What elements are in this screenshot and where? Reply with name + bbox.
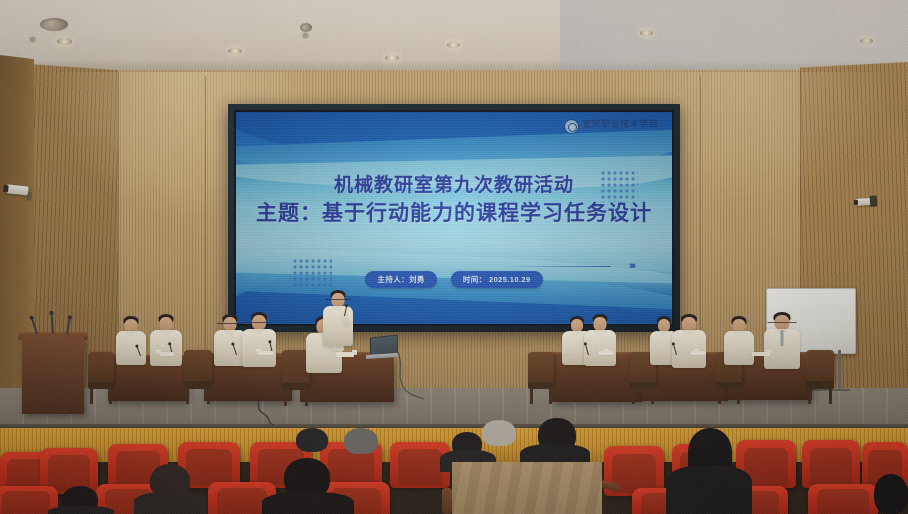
seat-cushion bbox=[2, 491, 49, 514]
panelist-4 bbox=[240, 312, 278, 368]
sprinkler-icon-2 bbox=[303, 33, 308, 38]
document-5 bbox=[690, 351, 706, 355]
panelist-2 bbox=[148, 314, 184, 368]
document-2 bbox=[258, 351, 274, 355]
stage-chair-2 bbox=[184, 350, 212, 404]
ceiling-downlight-5 bbox=[640, 30, 653, 36]
document-6 bbox=[752, 352, 770, 356]
seat-cushion bbox=[328, 449, 374, 485]
seat-cushion bbox=[817, 489, 869, 514]
panelist-1 bbox=[114, 316, 148, 368]
college-logo-text: 宜宾职业技术学院 YIBIN VOCATIONAL AND TECHNICAL … bbox=[582, 120, 663, 133]
camera-lens-right bbox=[854, 200, 858, 205]
chair-leg-right bbox=[829, 388, 832, 404]
panelist-torso bbox=[150, 330, 182, 366]
chair-back bbox=[184, 350, 212, 383]
security-camera-right-icon bbox=[856, 195, 883, 209]
chair-back bbox=[88, 352, 114, 384]
seat-cushion bbox=[186, 449, 232, 485]
ceiling-downlight-6 bbox=[860, 38, 873, 44]
chair-leg-right bbox=[207, 388, 210, 404]
chair-leg-right bbox=[549, 388, 552, 404]
slide-title-line-1: 机械教研室第九次教研活动 bbox=[236, 174, 672, 198]
panelist-8 bbox=[582, 314, 618, 368]
ceiling-vent-icon-2 bbox=[300, 23, 312, 32]
chair-back bbox=[806, 350, 834, 383]
chair-leg-right bbox=[651, 388, 654, 404]
document-1 bbox=[160, 352, 174, 356]
audience-shoulders-3 bbox=[262, 492, 354, 514]
audience-shoulders-1 bbox=[48, 506, 114, 514]
panelist-6-standing-speaker bbox=[320, 290, 356, 348]
panelist-torso bbox=[584, 330, 616, 366]
stage-cable bbox=[252, 392, 302, 426]
panelist-12 bbox=[762, 312, 802, 370]
slide-date-badge: 时间： 2025.10.29 bbox=[451, 271, 543, 288]
audience-head-10 bbox=[874, 474, 908, 514]
whiteboard-cable bbox=[396, 352, 436, 400]
ceiling-downlight-4 bbox=[447, 42, 460, 48]
panelist-head bbox=[160, 317, 173, 331]
audience-shoulders-2 bbox=[134, 492, 206, 514]
seat-cushion bbox=[810, 448, 853, 485]
panelist-head bbox=[682, 317, 696, 331]
chair-leg-left bbox=[186, 388, 189, 404]
panelist-torso bbox=[724, 331, 754, 365]
chair-leg-left bbox=[632, 388, 635, 404]
ceiling-downlight-1 bbox=[57, 38, 72, 45]
whiteboard-leg-right bbox=[838, 350, 841, 390]
wall-seam-2 bbox=[205, 76, 206, 396]
panelist-glasses-icon bbox=[768, 322, 797, 326]
stage-chair-7 bbox=[806, 350, 834, 404]
audience-seat-f7 bbox=[808, 484, 878, 514]
slide-badge-row: 主持人：刘勇 时间： 2025.10.29 bbox=[236, 271, 672, 288]
camera-lens-left bbox=[3, 185, 9, 192]
slide-accent-line bbox=[500, 266, 610, 267]
chair-leg-left bbox=[530, 388, 533, 404]
document-3 bbox=[336, 352, 354, 357]
panelist-10 bbox=[670, 314, 708, 370]
chair-leg-right bbox=[737, 388, 740, 404]
chair-leg-right bbox=[305, 389, 308, 406]
chair-back bbox=[528, 352, 554, 384]
panelist-glasses-icon bbox=[245, 322, 272, 326]
panelist-torso bbox=[672, 330, 706, 368]
chair-leg-left bbox=[90, 388, 93, 404]
audience-head-5 bbox=[344, 428, 378, 454]
slide-title-block: 机械教研室第九次教研活动 主题：基于行动能力的课程学习任务设计 bbox=[236, 174, 672, 227]
lectern bbox=[22, 336, 84, 414]
audience-head-4 bbox=[296, 428, 328, 452]
chair-leg-left bbox=[808, 388, 811, 404]
panelist-tie bbox=[781, 330, 784, 346]
stage-chair-4 bbox=[528, 352, 554, 404]
camera-mount-right bbox=[870, 195, 878, 206]
audience-seat-r4 bbox=[802, 440, 860, 488]
chair-leg-left bbox=[718, 388, 721, 404]
panelist-11 bbox=[722, 316, 756, 368]
ceiling-vent-icon bbox=[40, 18, 68, 31]
camera-body-left bbox=[6, 184, 29, 195]
seat-armrest-3 bbox=[442, 488, 452, 514]
college-seal-icon bbox=[564, 119, 579, 134]
seat-cushion bbox=[217, 488, 267, 514]
sprinkler-icon-1 bbox=[30, 37, 35, 42]
conference-hall-photo: 宜宾职业技术学院 YIBIN VOCATIONAL AND TECHNICAL … bbox=[0, 0, 908, 514]
seat-cushion bbox=[398, 449, 442, 485]
slide-host-badge: 主持人：刘勇 bbox=[365, 271, 436, 288]
presentation-screen: 宜宾职业技术学院 YIBIN VOCATIONAL AND TECHNICAL … bbox=[236, 112, 672, 324]
speaker-glasses-icon bbox=[325, 299, 351, 303]
panelist-torso bbox=[116, 331, 146, 365]
stage-chair-1 bbox=[88, 352, 114, 404]
document-4 bbox=[598, 351, 614, 355]
audience-shoulders-9 bbox=[666, 466, 752, 514]
slide-title-line-2: 主题：基于行动能力的课程学习任务设计 bbox=[236, 200, 672, 227]
college-logo: 宜宾职业技术学院 YIBIN VOCATIONAL AND TECHNICAL … bbox=[564, 119, 663, 134]
chair-leg-right bbox=[109, 388, 112, 404]
audience-head-7 bbox=[482, 420, 516, 446]
college-name-en: YIBIN VOCATIONAL AND TECHNICAL COLLEGE bbox=[582, 130, 663, 133]
ceiling-downlight-2 bbox=[228, 48, 242, 54]
panelist-head bbox=[594, 317, 607, 331]
aisle-floor bbox=[452, 462, 602, 514]
